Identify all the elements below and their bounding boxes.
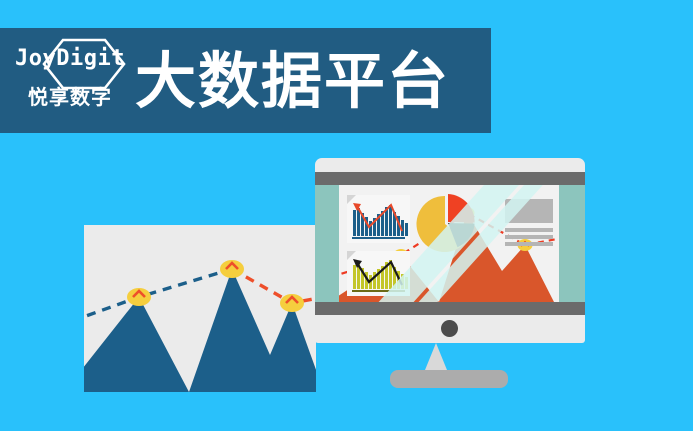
screen-left-band bbox=[315, 185, 339, 302]
banner-root: JoyDigit 悦享数字 大数据平台 bbox=[0, 0, 693, 431]
brand-logo: JoyDigit 悦享数字 bbox=[14, 38, 126, 118]
logo-latin-text: JoyDigit bbox=[14, 48, 126, 70]
text-line bbox=[505, 242, 553, 246]
text-line bbox=[505, 235, 553, 239]
blue-bar-chart-card[interactable] bbox=[347, 195, 410, 243]
page-title: 大数据平台 bbox=[135, 48, 450, 115]
card-baseline bbox=[352, 237, 405, 239]
monitor-frame bbox=[315, 158, 585, 343]
monitor-screen bbox=[315, 185, 585, 302]
text-line bbox=[505, 228, 553, 232]
monitor-top-bezel bbox=[315, 172, 585, 185]
screen-right-band bbox=[559, 185, 585, 302]
trend-line-left bbox=[84, 269, 232, 321]
left-mountain-chart bbox=[84, 225, 316, 392]
mountain-shape bbox=[84, 269, 316, 392]
monitor-power-dot[interactable] bbox=[441, 320, 458, 337]
monitor-stand-neck bbox=[425, 343, 447, 370]
left-chart-panel bbox=[84, 225, 316, 392]
monitor-bottom-bezel bbox=[315, 302, 585, 315]
monitor-stand-base bbox=[390, 370, 508, 388]
blue-card-trend-line bbox=[347, 195, 410, 243]
logo-chinese-text: 悦享数字 bbox=[14, 88, 126, 108]
